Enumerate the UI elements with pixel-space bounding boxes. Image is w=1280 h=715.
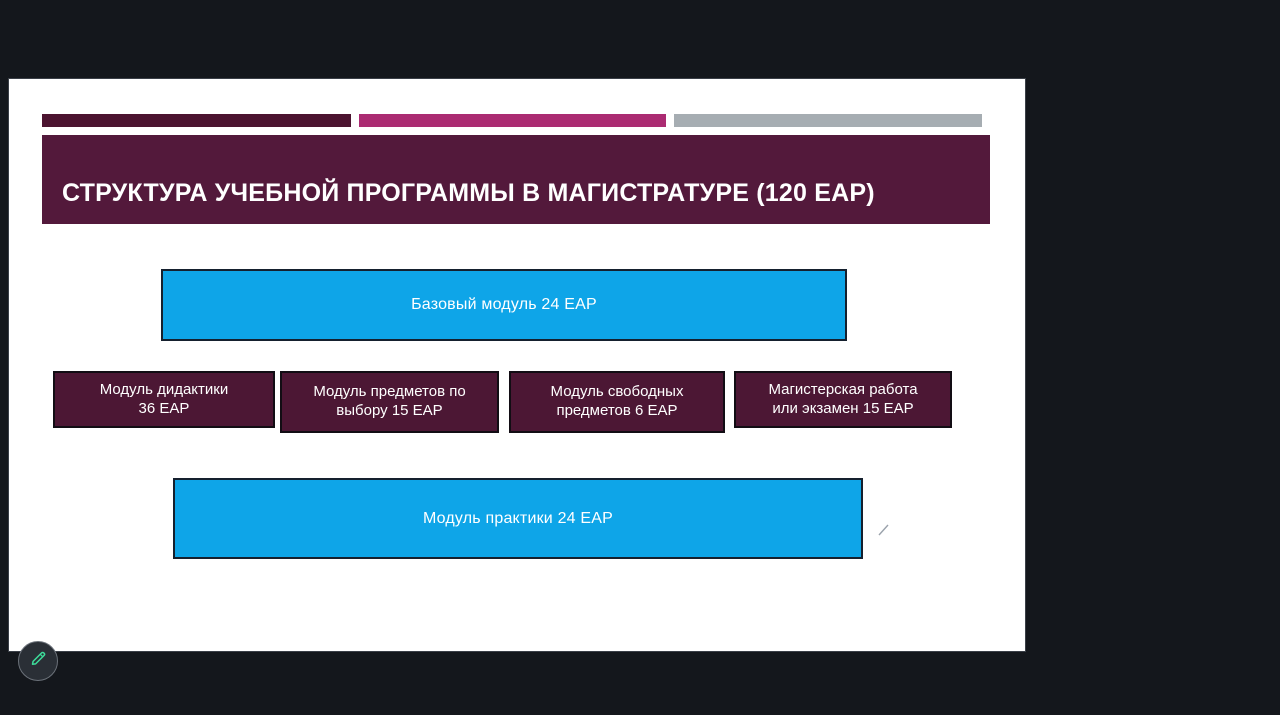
practice-module-box: Модуль практики 24 EAP xyxy=(173,478,863,559)
module-box-thesis-line2: или экзамен 15 EAP xyxy=(768,400,917,419)
module-box-elective-line1: Модуль предметов по xyxy=(313,383,465,402)
base-module-box: Базовый модуль 24 EAP xyxy=(161,269,847,341)
module-box-didactics-line1: Модуль дидактики xyxy=(100,381,228,400)
ink-annotation-mark xyxy=(877,523,891,537)
accent-bar-gray xyxy=(674,114,982,127)
shared-slide-stage: СТРУКТУРА УЧЕБНОЙ ПРОГРАММЫ В МАГИСТРАТУ… xyxy=(8,78,1026,652)
module-box-didactics-line2: 36 EAP xyxy=(100,400,228,419)
module-box-thesis: Магистерская работа или экзамен 15 EAP xyxy=(734,371,952,428)
slide-title-eap: EAP xyxy=(814,179,866,207)
module-box-free-subjects-line2: предметов 6 EAP xyxy=(551,402,684,421)
accent-bar-dark xyxy=(42,114,351,127)
module-box-thesis-line1: Магистерская работа xyxy=(768,381,917,400)
accent-bar-group xyxy=(42,114,990,127)
slide-title-tail: ) xyxy=(866,179,875,207)
module-box-free-subjects: Модуль свободных предметов 6 EAP xyxy=(509,371,725,433)
participants-sidebar: Urve Aja Alona Solonska Alona Solonska М… xyxy=(1080,0,1280,715)
slide-title-banner: СТРУКТУРА УЧЕБНОЙ ПРОГРАММЫ В МАГИСТРАТУ… xyxy=(42,135,990,224)
slide-title-text: СТРУКТУРА УЧЕБНОЙ ПРОГРАММЫ В МАГИСТРАТУ… xyxy=(62,179,814,207)
module-box-free-subjects-line1: Модуль свободных xyxy=(551,383,684,402)
annotate-button[interactable] xyxy=(18,641,58,681)
module-box-elective-line2: выбору 15 EAP xyxy=(313,402,465,421)
module-box-elective: Модуль предметов по выбору 15 EAP xyxy=(280,371,499,433)
pencil-icon xyxy=(29,649,48,673)
module-box-didactics: Модуль дидактики 36 EAP xyxy=(53,371,275,428)
meeting-screen-share-window: СТРУКТУРА УЧЕБНОЙ ПРОГРАММЫ В МАГИСТРАТУ… xyxy=(0,0,1280,715)
slide-title: СТРУКТУРА УЧЕБНОЙ ПРОГРАММЫ В МАГИСТРАТУ… xyxy=(42,179,875,224)
accent-bar-magenta xyxy=(359,114,666,127)
